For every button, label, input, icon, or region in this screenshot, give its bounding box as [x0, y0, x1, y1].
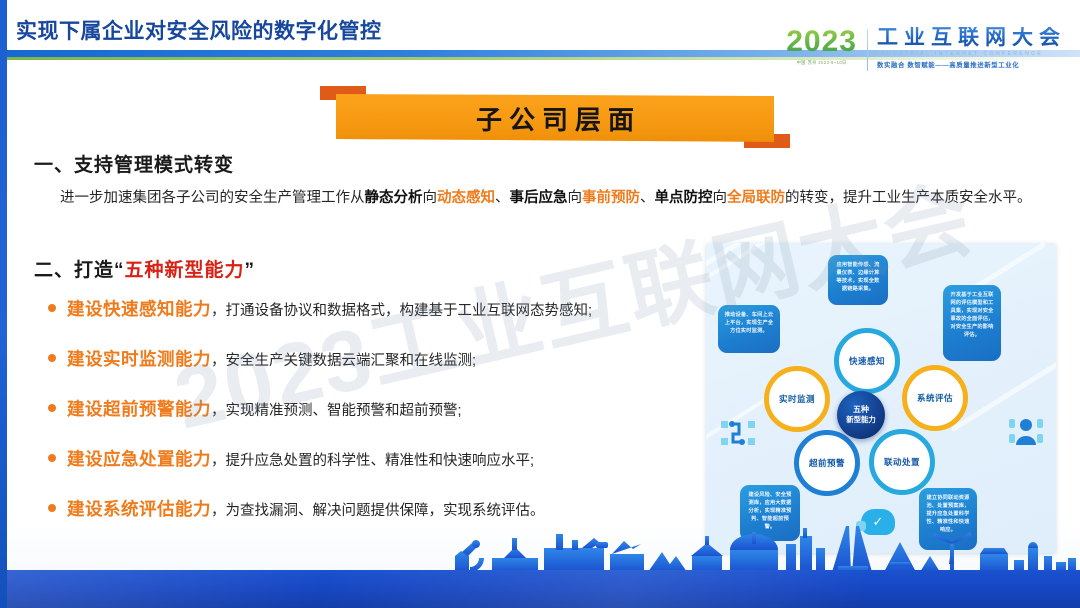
section-two-quote-open: “: [114, 260, 125, 281]
section-one-heading: 一、支持管理模式转变: [34, 150, 1054, 177]
callout-system-evaluation: 开发基于工业互联网的评估模型和工具集，实现对安全事故的全面评估，对安全生产的影响…: [943, 285, 1001, 361]
network-icon: [721, 418, 755, 448]
paragraph-text-1: 进一步加速集团各子公司的安全生产管理工作从: [60, 190, 365, 206]
section-two-heading-red: 五种新型能力: [125, 260, 245, 281]
list-item-desc: ，打通设备协议和数据格式，构建基于工业互联网态势感知;: [211, 303, 592, 319]
paragraph-text-7: 的转变，提升工业生产本质安全水平。: [785, 190, 1032, 206]
list-item: 建设超前预警能力，实现精准预测、智能预警和超前预警;: [48, 396, 592, 446]
list-item-title: 建设实时监测能力: [67, 349, 211, 369]
bullet-dot-icon: [48, 304, 56, 312]
diagram-hub[interactable]: 五种 新型能力: [837, 391, 885, 439]
list-item-title: 建设快速感知能力: [67, 299, 211, 319]
paragraph-bold-3: 单点防控: [655, 190, 713, 206]
hub-line-2: 新型能力: [846, 415, 876, 425]
left-accent-bar: [0, 0, 7, 608]
list-item-desc: ，实现精准预测、智能预警和超前预警;: [211, 403, 462, 419]
paragraph-text-4: 向: [568, 190, 583, 206]
node-linked-response[interactable]: 联动处置: [869, 429, 935, 495]
node-fast-sensing[interactable]: 快速感知: [834, 328, 900, 394]
hub-line-1: 五种: [853, 405, 869, 415]
bullet-dot-icon: [48, 404, 56, 412]
paragraph-highlight-3: 全局联防: [727, 190, 785, 206]
paragraph-bold-1: 静态分析: [365, 190, 423, 206]
bullet-dot-icon: [48, 454, 56, 462]
node-early-warning[interactable]: 超前预警: [794, 430, 860, 496]
list-item-title: 建设超前预警能力: [67, 399, 211, 419]
logo-year-block: 2023 中国·苏州 2023·9~10日: [786, 27, 867, 66]
paragraph-highlight-1: 动态感知: [437, 190, 495, 206]
section-one: 一、支持管理模式转变 进一步加速集团各子公司的安全生产管理工作从静态分析向动态感…: [34, 150, 1054, 211]
list-item: 建设应急处置能力，提升应急处置的科学性、精准性和快速响应水平;: [48, 446, 592, 496]
paragraph-text-5: 、: [640, 190, 655, 206]
logo-year-subtext: 中国·苏州 2023·9~10日: [797, 60, 847, 67]
banner-body: 子公司层面: [336, 94, 774, 142]
conference-logo: 2023 中国·苏州 2023·9~10日 工业互联网大会 INDUSTRIAL…: [786, 27, 1066, 73]
section-two: 二、打造“五种新型能力”: [34, 255, 255, 282]
diagram-streak: [706, 243, 816, 277]
city-skyline-graphic: [0, 526, 1080, 572]
diagram-streak: [706, 243, 798, 286]
page-title: 实现下属企业对安全风险的数字化管控: [16, 15, 382, 45]
logo-name-en: INDUSTRIAL INTERNET CONFERENCE: [877, 51, 1066, 57]
list-item-title: 建设应急处置能力: [67, 449, 211, 469]
section-two-quote-close: ”: [245, 260, 256, 281]
paragraph-highlight-2: 事前预防: [582, 190, 640, 206]
logo-name-block: 工业互联网大会 INDUSTRIAL INTERNET CONFERENCE 数…: [877, 27, 1066, 69]
list-item-desc: ，为查找漏洞、解决问题提供保障，实现系统评估。: [211, 503, 545, 519]
section-banner: 子公司层面: [320, 86, 790, 148]
paragraph-bold-2: 事后应急: [510, 190, 568, 206]
callout-fast-sensing: 应用智能传感、流量仪表、边缘计算等技术，实现全数据链路采集。: [828, 255, 888, 305]
section-one-paragraph: 进一步加速集团各子公司的安全生产管理工作从静态分析向动态感知、事后应急向事前预防…: [34, 186, 1054, 211]
callout-realtime-monitoring: 推动设备、车间上云上平台，实现生产全方位实时监测。: [718, 305, 780, 353]
section-two-heading: 二、打造“五种新型能力”: [34, 255, 255, 282]
slide-canvas: 实现下属企业对安全风险的数字化管控 2023 中国·苏州 2023·9~10日 …: [0, 0, 1080, 608]
list-item-title: 建设系统评估能力: [67, 499, 211, 519]
capability-list: 建设快速感知能力，打通设备协议和数据格式，构建基于工业互联网态势感知; 建设实时…: [48, 296, 592, 546]
paragraph-text-2: 向: [423, 190, 438, 206]
list-item-desc: ，提升应急处置的科学性、精准性和快速响应水平;: [211, 453, 534, 469]
list-item: 建设快速感知能力，打通设备协议和数据格式，构建基于工业互联网态势感知;: [48, 296, 592, 346]
logo-divider: [867, 29, 868, 71]
logo-slogan: 数实融合 数智赋能——高质量推进新型工业化: [877, 60, 1066, 69]
list-item-desc: ，安全生产关键数据云端汇聚和在线监测;: [211, 353, 476, 369]
node-system-evaluation[interactable]: 系统评估: [902, 365, 968, 431]
people-icon: [1009, 415, 1043, 445]
paragraph-text-6: 向: [713, 190, 728, 206]
footer-band: [0, 570, 1080, 608]
paragraph-text-3: 、: [495, 190, 510, 206]
banner-label: 子公司层面: [469, 100, 641, 137]
bullet-dot-icon: [48, 504, 56, 512]
bullet-dot-icon: [48, 354, 56, 362]
logo-name-cn: 工业互联网大会: [877, 27, 1066, 49]
logo-year-text: 2023: [786, 27, 857, 57]
section-two-heading-pre: 二、打造: [34, 260, 114, 281]
capability-diagram: 应用智能传感、流量仪表、边缘计算等技术，实现全数据链路采集。 开发基于工业互联网…: [706, 243, 1056, 553]
node-realtime-monitoring[interactable]: 实时监测: [764, 366, 830, 432]
list-item: 建设实时监测能力，安全生产关键数据云端汇聚和在线监测;: [48, 346, 592, 396]
